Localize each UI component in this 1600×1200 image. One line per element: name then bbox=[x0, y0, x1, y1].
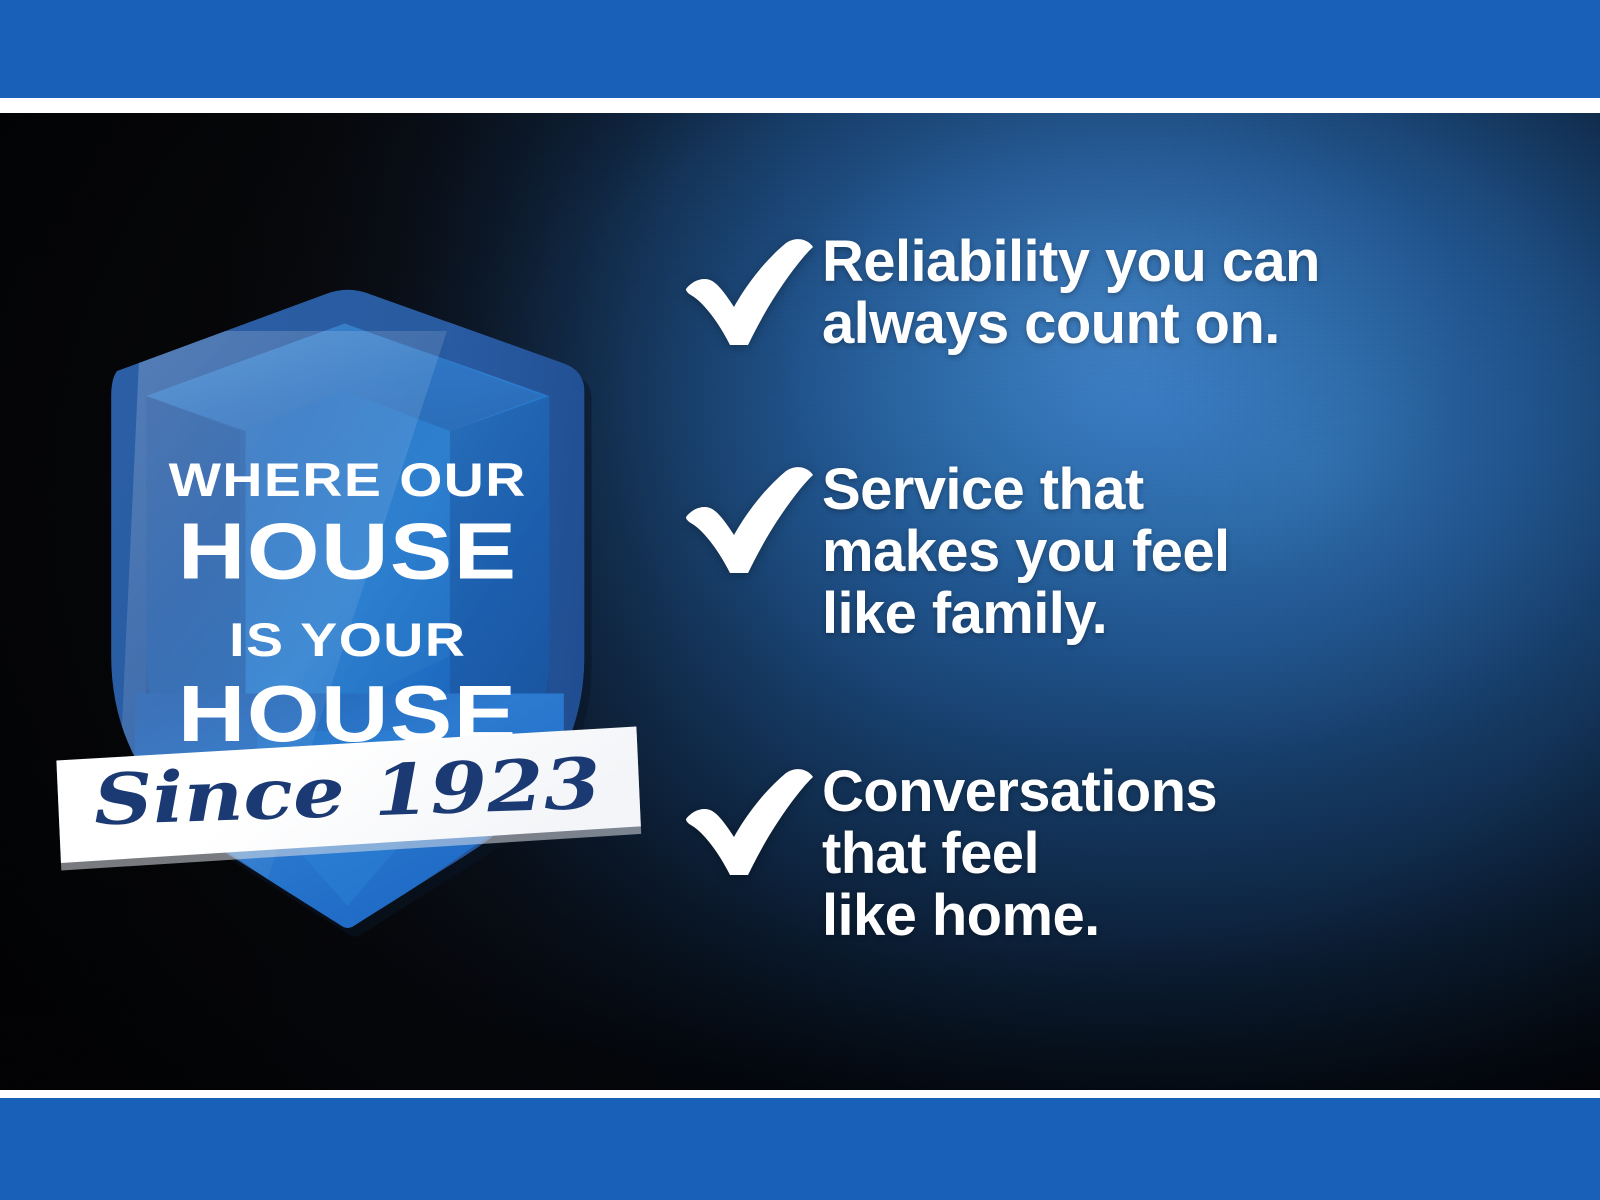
shield-body: WHERE OUR HOUSE IS YOUR HOUSE Since 1923 bbox=[56, 281, 642, 956]
ribbon-since-text: Since 1923 bbox=[92, 742, 603, 840]
bottom-brand-bar bbox=[0, 1098, 1600, 1200]
bottom-white-divider bbox=[0, 1090, 1600, 1098]
promo-poster: WHERE OUR HOUSE IS YOUR HOUSE Since 1923 bbox=[0, 0, 1600, 1200]
poster-stage: WHERE OUR HOUSE IS YOUR HOUSE Since 1923 bbox=[0, 113, 1600, 1090]
top-white-divider bbox=[0, 98, 1600, 113]
benefit-text-service: Service that makes you feel like family. bbox=[822, 455, 1229, 645]
check-icon bbox=[682, 465, 816, 577]
check-icon bbox=[682, 767, 816, 879]
check-icon-wrap-2 bbox=[672, 455, 822, 575]
shield-line-1: WHERE OUR bbox=[169, 453, 527, 506]
top-brand-bar bbox=[0, 0, 1600, 98]
benefit-text-reliability: Reliability you can always count on. bbox=[822, 227, 1320, 355]
benefit-item-conversations: Conversations that feel like home. bbox=[672, 757, 1572, 947]
check-icon-wrap-3 bbox=[672, 757, 822, 877]
benefits-list: Reliability you can always count on. Ser… bbox=[672, 213, 1572, 947]
shield-line-3: IS YOUR bbox=[229, 613, 466, 666]
shield-line-2: HOUSE bbox=[178, 507, 518, 596]
check-icon bbox=[682, 237, 816, 349]
check-icon-wrap-1 bbox=[672, 227, 822, 347]
shield-emblem: WHERE OUR HOUSE IS YOUR HOUSE Since 1923 bbox=[60, 273, 620, 953]
benefit-item-service: Service that makes you feel like family. bbox=[672, 455, 1572, 645]
benefit-item-reliability: Reliability you can always count on. bbox=[672, 227, 1572, 355]
benefit-text-conversations: Conversations that feel like home. bbox=[822, 757, 1217, 947]
